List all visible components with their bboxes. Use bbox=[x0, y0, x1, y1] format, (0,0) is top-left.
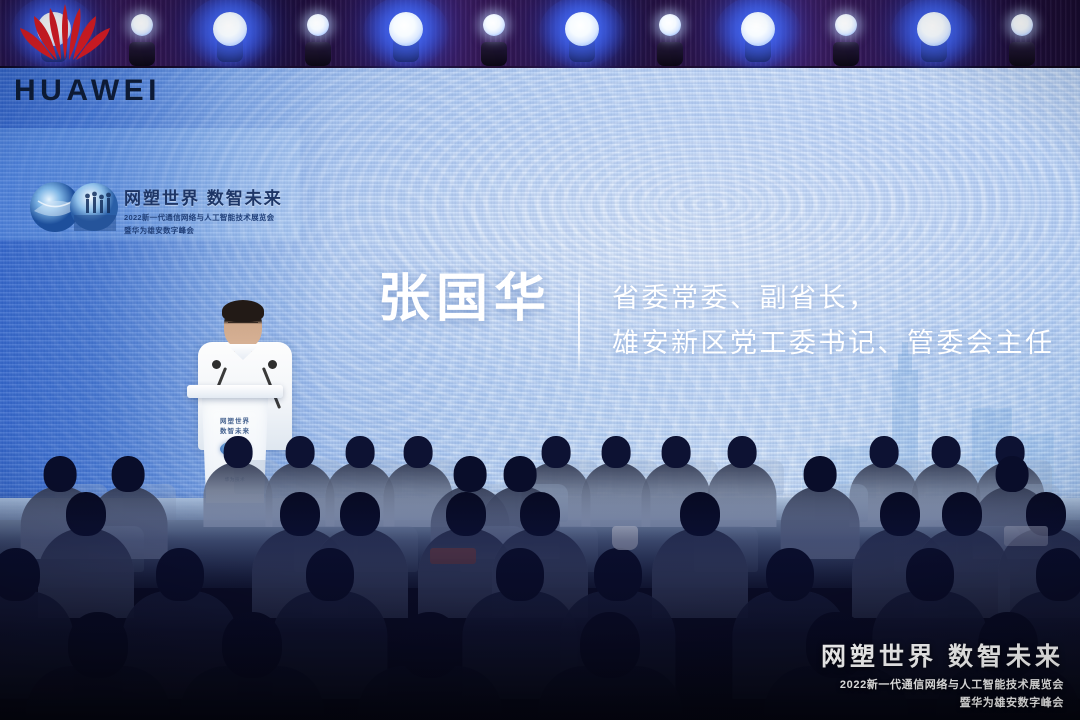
stage-light-5 bbox=[378, 2, 434, 62]
speaker-name-block: 张国华 bbox=[378, 273, 552, 325]
stage-light-4 bbox=[290, 6, 346, 66]
stage-light-10 bbox=[818, 6, 874, 66]
conference-stage-photo: 网塑世界 数智未来 2022新一代通信网络与人工智能技术展览会 暨华为雄安数字峰… bbox=[0, 0, 1080, 720]
stage-light-7 bbox=[554, 2, 610, 62]
watermark-line2: 2022新一代通信网络与人工智能技术展览会 bbox=[821, 676, 1064, 692]
audience-head bbox=[404, 436, 433, 468]
audience-head bbox=[662, 436, 691, 468]
microphone-left-head bbox=[212, 360, 221, 369]
podium-top-surface bbox=[187, 385, 283, 398]
watermark-line3: 暨华为雄安数字峰会 bbox=[821, 694, 1064, 710]
stage-light-6 bbox=[466, 6, 522, 66]
event-logo-icon bbox=[28, 181, 124, 233]
speaker-name: 张国华 bbox=[378, 273, 552, 325]
audience-head bbox=[224, 436, 253, 468]
huawei-wordmark: HUAWEI bbox=[14, 74, 161, 108]
speaker-title-line1: 省委常委、副省长， bbox=[612, 276, 1055, 321]
event-subtitle-line2: 暨华为雄安数字峰会 bbox=[124, 225, 283, 236]
podium-text-line1: 网塑世界 bbox=[196, 415, 274, 425]
microphone-right-head bbox=[268, 360, 277, 369]
stage-light-3 bbox=[202, 2, 258, 62]
audience-head bbox=[286, 436, 315, 468]
audience-head bbox=[112, 456, 145, 492]
speaker-glasses bbox=[228, 322, 258, 329]
speaker-title-line2: 雄安新区党工委书记、管委会主任 bbox=[612, 321, 1055, 366]
audience-head bbox=[346, 436, 375, 468]
stage-light-2 bbox=[114, 6, 170, 66]
audience-head bbox=[996, 456, 1029, 492]
audience-head bbox=[932, 436, 961, 468]
event-subtitle-line1: 2022新一代通信网络与人工智能技术展览会 bbox=[124, 212, 283, 223]
stage-light-12 bbox=[994, 6, 1050, 66]
audience-head bbox=[504, 456, 537, 492]
event-title: 网塑世界 数智未来 bbox=[124, 184, 283, 209]
huawei-flower-icon bbox=[12, 2, 118, 64]
watermark: 网塑世界 数智未来 2022新一代通信网络与人工智能技术展览会 暨华为雄安数字峰… bbox=[821, 643, 1064, 710]
stage-light-11 bbox=[906, 2, 962, 62]
speaker-title-block: 省委常委、副省长， 雄安新区党工委书记、管委会主任 bbox=[612, 276, 1055, 365]
stage-light-8 bbox=[642, 6, 698, 66]
stage-light-9 bbox=[730, 2, 786, 62]
audience-head bbox=[44, 456, 77, 492]
watermark-title: 网塑世界 数智未来 bbox=[821, 643, 1064, 672]
audience-head bbox=[870, 436, 899, 468]
speaker-hair bbox=[222, 300, 264, 322]
audience-head bbox=[602, 436, 631, 468]
audience-head bbox=[728, 436, 757, 468]
name-title-divider bbox=[578, 266, 580, 378]
event-title-block: 网塑世界 数智未来 2022新一代通信网络与人工智能技术展览会 暨华为雄安数字峰… bbox=[124, 184, 283, 236]
audience-head bbox=[804, 456, 837, 492]
